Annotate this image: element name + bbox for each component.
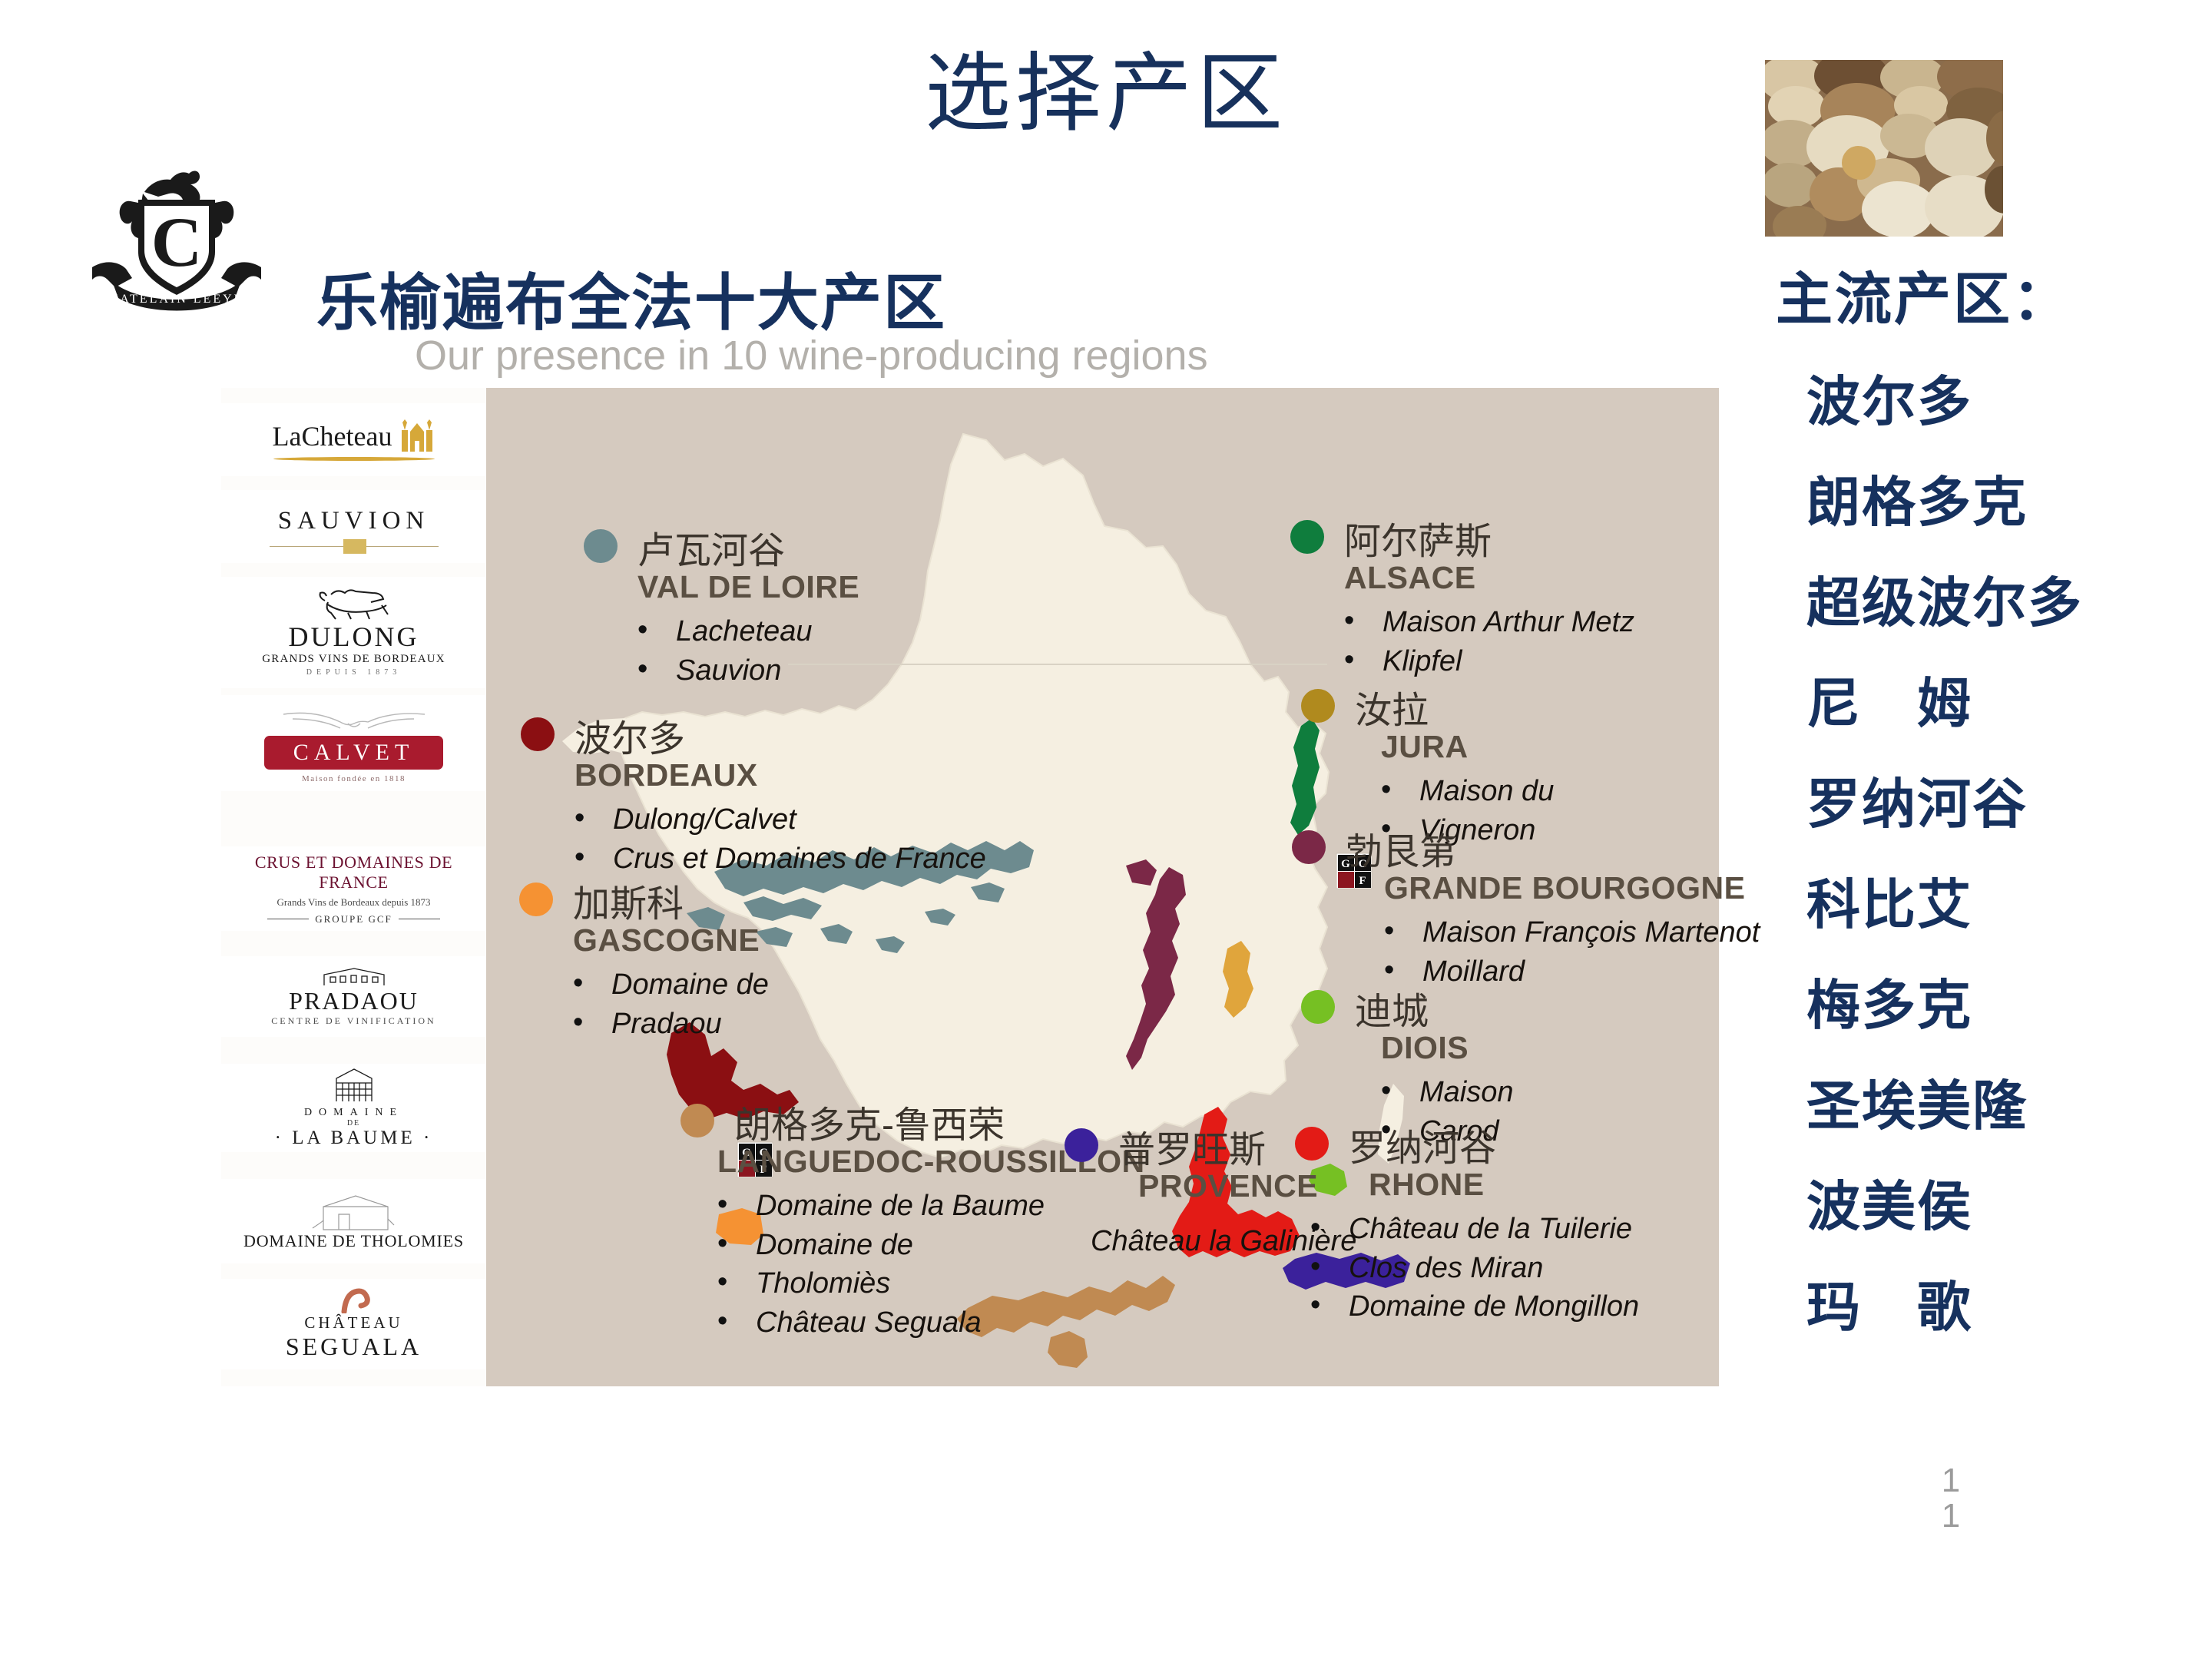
logo-pradaou: PRADAOU CENTRE DE VINIFICATION — [221, 956, 486, 1037]
mainstream-region-item: 波美侯 — [1806, 1164, 2212, 1241]
region-zh-val-de-loire: 卢瓦河谷 — [637, 520, 785, 574]
chatelain-leeyue-crest-logo: C CHATELAIN LEEYUE — [84, 152, 269, 313]
region-fr-diois: DIOIS — [1381, 1030, 1469, 1066]
house-item: Klipfel — [1382, 642, 1634, 681]
vineyard-gravel-photo — [1765, 60, 2003, 237]
region-houses-alsace: Maison Arthur Metz Klipfel — [1344, 603, 1634, 680]
region-fr-alsace: ALSACE — [1344, 560, 1476, 596]
crest-letter: C — [151, 203, 202, 281]
mainstream-region-item: 梅多克 — [1806, 962, 2212, 1040]
logo-calvet-text: CALVET — [293, 740, 415, 765]
mainstream-region-item: 玛 歌 — [1806, 1264, 2212, 1342]
svg-text:F: F — [1359, 875, 1366, 887]
vine-swirl-icon — [336, 1287, 372, 1313]
region-houses-languedoc-roussillon: Domaine de la Baume Domaine de Tholomiès… — [717, 1187, 1045, 1342]
mainstream-region-item: 朗格多克 — [1806, 459, 2212, 537]
region-dot-diois — [1301, 990, 1335, 1024]
house-item: Maison du — [1419, 772, 1554, 811]
winery-building-icon — [320, 967, 389, 987]
mainstream-region-item: 尼 姆 — [1806, 661, 2212, 738]
logo-baume-name: · LA BAUME · — [275, 1128, 433, 1149]
house-item: Pradaou — [611, 1005, 769, 1044]
region-dot-bordeaux — [521, 717, 555, 751]
house-item: Maison François Martenot — [1422, 913, 1760, 952]
region-dot-grande-bourgogne — [1292, 830, 1326, 864]
bird-icon — [277, 704, 431, 734]
house-item: Moillard — [1422, 952, 1760, 992]
region-fr-provence: PROVENCE — [1138, 1168, 1318, 1204]
house-item: Domaine de Mongillon — [1349, 1287, 1639, 1326]
logo-dulong-text: DULONG — [289, 621, 419, 653]
region-zh-provence: 普罗旺斯 — [1118, 1119, 1266, 1173]
mainstream-regions-list: 主流产区： 波尔多 朗格多克 超级波尔多 尼 姆 罗纳河谷 科比艾 梅多克 圣埃… — [1759, 253, 2212, 1342]
region-houses-grande-bourgogne: Maison François Martenot Moillard — [1384, 913, 1760, 991]
logo-calvet-tagline: Maison fondée en 1818 — [302, 774, 406, 783]
region-zh-jura: 汝拉 — [1355, 680, 1429, 733]
page-number-line: 1 — [1928, 1498, 1974, 1534]
region-zh-diois: 迪城 — [1355, 981, 1429, 1035]
logo-crus-et-domaines-de-france: CRUS ET DOMAINES DE FRANCE Grands Vins d… — [221, 846, 486, 931]
region-zh-bordeaux: 波尔多 — [575, 708, 685, 762]
page-number-line: 1 — [1928, 1463, 1974, 1498]
mainstream-region-item: 超级波尔多 — [1806, 560, 2212, 637]
logo-baume-de: DE — [347, 1119, 360, 1128]
logo-dulong-sub: DEPUIS 1873 — [306, 668, 402, 677]
region-shape-languedoc-2 — [1048, 1331, 1088, 1368]
house-item: Domaine de — [756, 1226, 1045, 1265]
logo-lacheteau: LaCheteau — [221, 403, 486, 476]
chateau-gate-icon — [330, 1068, 378, 1103]
logo-baume-domaine: DOMAINE — [304, 1107, 403, 1119]
logo-pradaou-text: PRADAOU — [289, 987, 419, 1015]
crest-ribbon-text: CHATELAIN LEEYUE — [98, 293, 255, 306]
logo-sauvion-text: SAUVION — [278, 507, 430, 535]
logo-domaine-de-la-baume: DOMAINE DE · LA BAUME · — [221, 1064, 486, 1152]
logo-pradaou-tagline: CENTRE DE VINIFICATION — [271, 1015, 435, 1027]
house-item: Domaine de la Baume — [756, 1187, 1045, 1226]
logo-cdf-sub: GROUPE GCF — [315, 913, 392, 926]
logo-seguala-name: SEGUALA — [286, 1333, 422, 1361]
region-zh-languedoc-roussillon: 朗格多克-鲁西荣 — [734, 1094, 1005, 1148]
region-fr-val-de-loire: VAL DE LOIRE — [637, 569, 859, 605]
logo-chateau-seguala: CHÂTEAU SEGUALA — [221, 1279, 486, 1369]
region-fr-rhone: RHONE — [1369, 1167, 1485, 1203]
house-item: Clos des Miran — [1349, 1249, 1639, 1288]
region-dot-provence — [1065, 1128, 1098, 1162]
region-zh-grande-bourgogne: 勃艮第 — [1346, 821, 1456, 875]
house-item: Sauvion — [676, 651, 813, 690]
logo-seguala-chateau: CHÂTEAU — [304, 1313, 402, 1333]
house-item: Château Seguala — [756, 1303, 1045, 1343]
map-panel: LaCheteau SAUVION — [221, 388, 1719, 1386]
house-item: Tholomiès — [756, 1264, 1045, 1303]
slide-root: 选择产区 C CHATELAIN LEEYUE 乐榆遍布全法 — [0, 0, 2212, 1659]
logo-tholomies-text: DOMAINE DE THOLOMIES — [243, 1231, 464, 1251]
house-item: Maison Arthur Metz — [1382, 603, 1634, 642]
house-item: Domaine de — [611, 965, 769, 1005]
house-item: Maison — [1419, 1073, 1514, 1112]
region-dot-val-de-loire — [584, 529, 618, 563]
mainstream-region-item: 波尔多 — [1806, 359, 2212, 436]
region-dot-jura — [1301, 689, 1335, 723]
mainstream-region-item: 罗纳河谷 — [1806, 761, 2212, 839]
region-fr-grande-bourgogne: GRANDE BOURGOGNE — [1384, 870, 1745, 906]
logo-calvet: CALVET Maison fondée en 1818 — [221, 695, 486, 791]
house-item: Dulong/Calvet — [613, 800, 986, 839]
logo-cdf-text: CRUS ET DOMAINES DE FRANCE — [221, 853, 486, 892]
subtitle-english: Our presence in 10 wine-producing region… — [415, 332, 1208, 379]
lion-icon — [308, 588, 400, 621]
castle-icon — [399, 419, 435, 453]
region-fr-gascogne: GASCOGNE — [573, 922, 760, 959]
logo-domaine-de-tholomies: DOMAINE DE THOLOMIES — [221, 1179, 486, 1263]
brand-logo-strip: LaCheteau SAUVION — [221, 388, 486, 1386]
region-zh-alsace: 阿尔萨斯 — [1344, 511, 1492, 565]
region-houses-gascogne: Domaine de Pradaou — [573, 965, 769, 1043]
region-houses-rhone: Château de la Tuilerie Clos des Miran Do… — [1310, 1210, 1639, 1326]
region-houses-val-de-loire: Lacheteau Sauvion — [637, 612, 813, 690]
logo-dulong-tagline: GRANDS VINS DE BORDEAUX — [262, 653, 445, 666]
region-dot-gascogne — [519, 882, 553, 916]
farmhouse-icon — [308, 1191, 400, 1231]
region-dot-alsace — [1290, 520, 1324, 554]
region-fr-bordeaux: BORDEAUX — [575, 757, 758, 793]
region-dot-rhone — [1295, 1127, 1329, 1161]
region-houses-bordeaux: Dulong/Calvet Crus et Domaines de France — [575, 800, 986, 878]
mainstream-regions-heading: 主流产区： — [1776, 253, 2212, 336]
region-zh-gascogne: 加斯科 — [573, 873, 684, 927]
subtitle-chinese: 乐榆遍布全法十大产区 — [316, 253, 946, 343]
house-item: Crus et Domaines de France — [613, 839, 986, 879]
mainstream-region-item: 圣埃美隆 — [1806, 1063, 2212, 1141]
logo-sauvion: SAUVION — [221, 490, 486, 563]
page-number: 1 1 — [1928, 1463, 1974, 1534]
mainstream-region-item: 科比艾 — [1806, 862, 2212, 939]
region-dot-languedoc-roussillon — [680, 1104, 714, 1137]
logo-lacheteau-text: LaCheteau — [273, 420, 392, 452]
logo-dulong: DULONG GRANDS VINS DE BORDEAUX DEPUIS 18… — [221, 577, 486, 688]
region-fr-jura: JURA — [1381, 729, 1469, 765]
house-item: Lacheteau — [676, 612, 813, 651]
region-zh-rhone: 罗纳河谷 — [1349, 1118, 1496, 1171]
house-item: Château de la Tuilerie — [1349, 1210, 1639, 1249]
logo-cdf-tagline: Grands Vins de Bordeaux depuis 1873 — [276, 896, 430, 909]
